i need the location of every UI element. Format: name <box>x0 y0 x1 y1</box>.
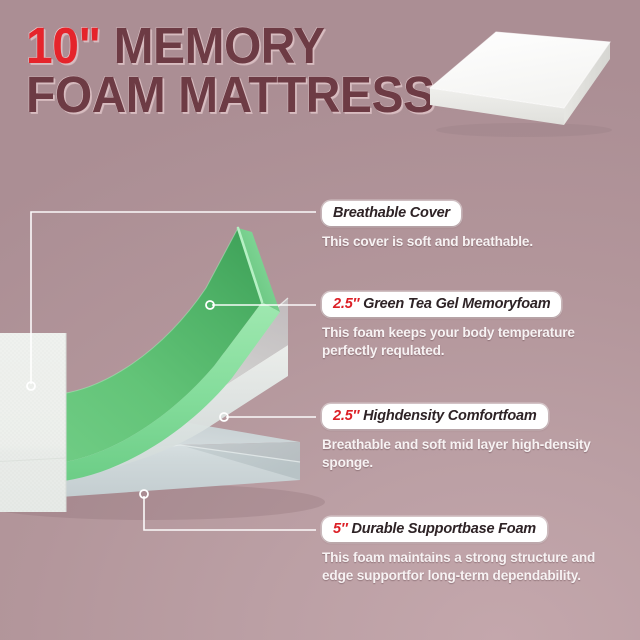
callout-label-2: Green Tea Gel Memoryfoam <box>363 296 550 312</box>
mattress-cutaway-diagram <box>0 180 340 540</box>
callout-desc-1: This cover is soft and breathable. <box>322 233 600 251</box>
callout-size-2: 2.5″ <box>333 296 359 312</box>
callout-label-4: Durable Supportbase Foam <box>351 521 536 537</box>
product-mattress-image <box>424 26 620 138</box>
title-line-2: FOAM MATTRESS <box>26 71 421 118</box>
callout-highdensity-comfortfoam: 2.5″ Highdensity Comfortfoam Breathable … <box>322 404 622 471</box>
callout-desc-3: Breathable and soft mid layer high-densi… <box>322 436 600 471</box>
infographic-poster: 10" MEMORY FOAM MATTRESS <box>0 0 640 640</box>
title-line-1: 10" MEMORY <box>26 22 421 69</box>
callout-label-1: Breathable Cover <box>333 205 450 221</box>
callout-breathable-cover: Breathable Cover This cover is soft and … <box>322 201 622 251</box>
callout-green-tea-gel-memoryfoam: 2.5″ Green Tea Gel Memoryfoam This foam … <box>322 292 622 359</box>
callout-desc-4: This foam maintains a strong structure a… <box>322 549 600 584</box>
callout-desc-2: This foam keeps your body temperature pe… <box>322 324 600 359</box>
callout-pill-3[interactable]: 2.5″ Highdensity Comfortfoam <box>322 404 548 429</box>
callout-size-4: 5″ <box>333 521 348 537</box>
callout-pill-2[interactable]: 2.5″ Green Tea Gel Memoryfoam <box>322 292 561 317</box>
page-title: 10" MEMORY FOAM MATTRESS <box>26 22 446 119</box>
callout-label-3: Highdensity Comfortfoam <box>363 408 536 424</box>
callout-pill-1[interactable]: Breathable Cover <box>322 201 461 226</box>
callout-pill-4[interactable]: 5″ Durable Supportbase Foam <box>322 517 547 542</box>
callout-durable-supportbase-foam: 5″ Durable Supportbase Foam This foam ma… <box>322 517 622 584</box>
callout-size-3: 2.5″ <box>333 408 359 424</box>
